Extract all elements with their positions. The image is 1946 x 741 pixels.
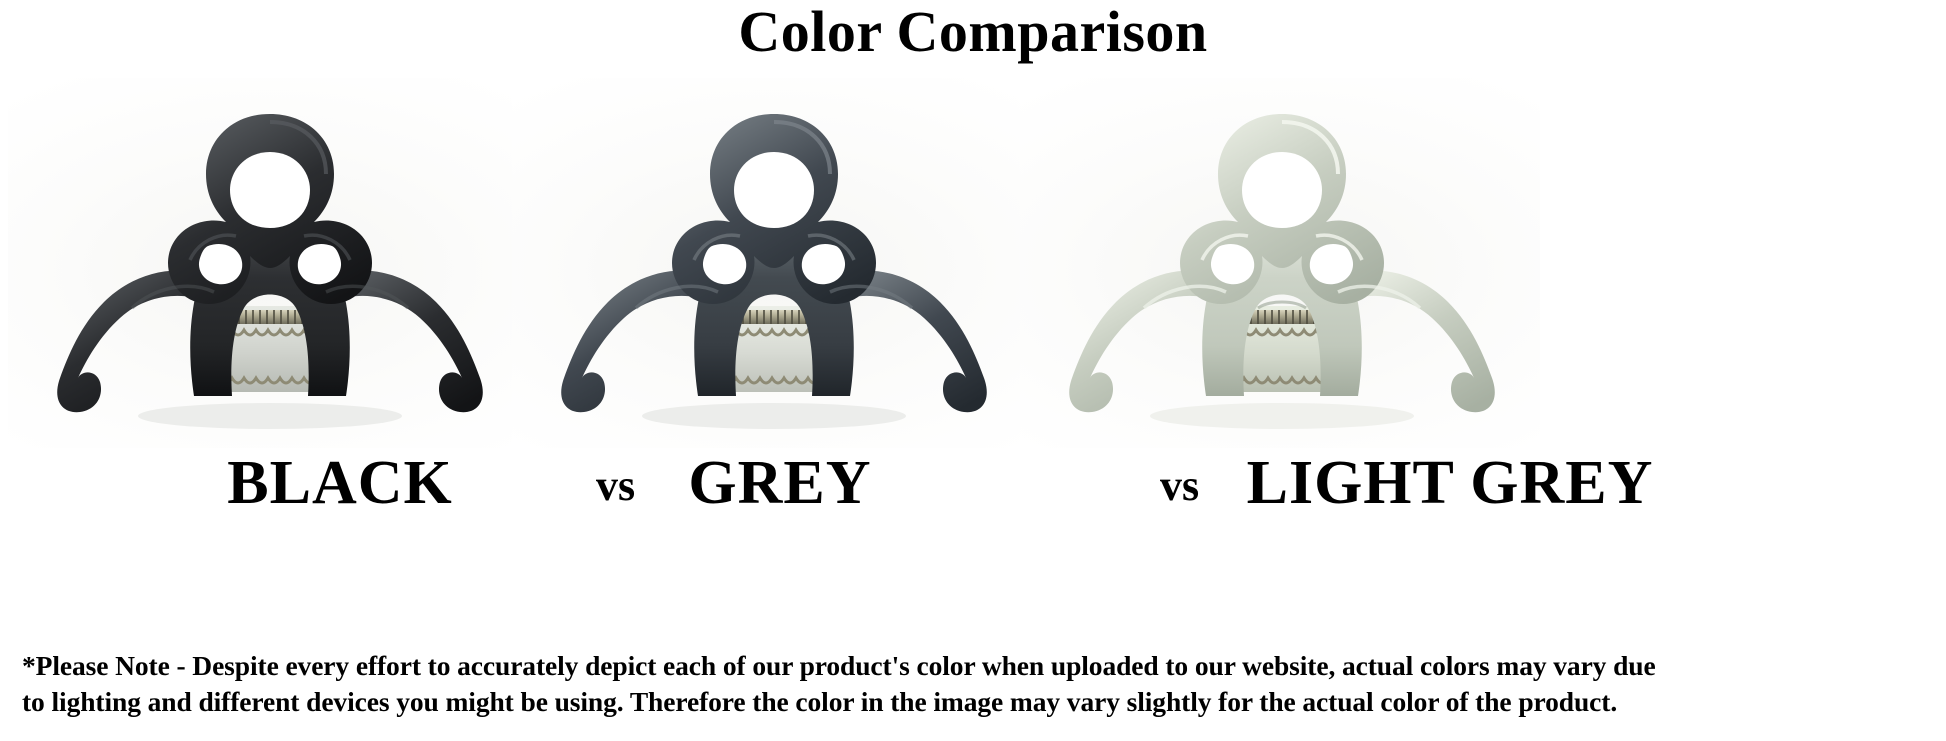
disclaimer-line-2: to lighting and different devices you mi…: [22, 684, 1928, 720]
disclaimer-line-1: *Please Note - Despite every effort to a…: [22, 648, 1928, 684]
shutter-dog-clamp-icon: [1020, 78, 1540, 448]
color-label-row: BLACK vs GREY vs LIGHT GREY: [0, 452, 1946, 524]
page-title: Color Comparison: [0, 2, 1946, 63]
shutter-dog-clamp-icon: [8, 78, 528, 448]
shutter-dog-clamp-icon: [512, 78, 1032, 448]
product-image-row: [0, 78, 1946, 448]
product-label-grey: GREY: [520, 452, 1040, 514]
product-label-light-grey: LIGHT GREY: [1070, 452, 1830, 514]
product-image-black: [8, 78, 528, 448]
product-image-grey: [512, 78, 1032, 448]
product-image-light-grey: [1020, 78, 1540, 448]
disclaimer-note: *Please Note - Despite every effort to a…: [22, 648, 1928, 721]
color-comparison-graphic: Color Comparison: [0, 0, 1946, 741]
